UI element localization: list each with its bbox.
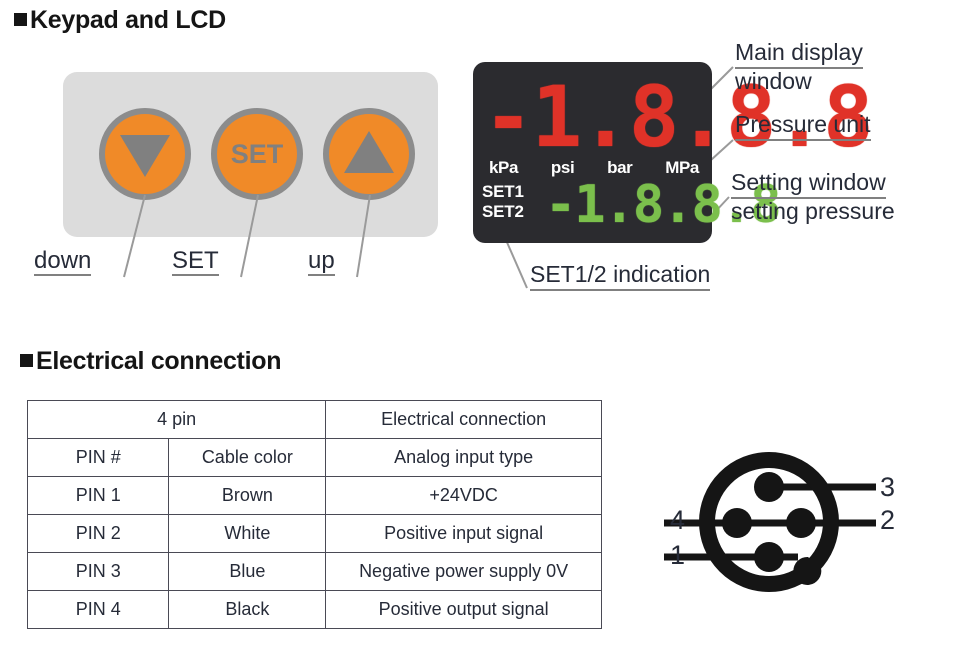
table-group-header-row: 4 pin Electrical connection xyxy=(28,401,602,439)
cell-color: Blue xyxy=(169,553,326,591)
set-button-label: SET xyxy=(231,141,284,168)
cell-desc: +24VDC xyxy=(326,477,602,515)
electrical-section-heading: Electrical connection xyxy=(20,347,281,376)
set-indication-callout-line1: SET1/2 indication xyxy=(530,262,710,291)
keypad-panel: SET xyxy=(63,72,438,237)
unit-kpa: kPa xyxy=(489,158,518,178)
cell-color: Black xyxy=(169,591,326,629)
triangle-down-icon xyxy=(120,135,170,177)
set1-indicator: SET1 xyxy=(482,182,524,202)
connector-pin-label-4: 4 xyxy=(670,507,685,534)
cell-pin: PIN 3 xyxy=(28,553,169,591)
setting-window-callout: Setting window setting pressure xyxy=(731,170,895,225)
keypad-heading-text: Keypad and LCD xyxy=(30,6,226,34)
connector-pin-label-1: 1 xyxy=(670,542,685,569)
main-display-callout: Main display window xyxy=(735,40,863,95)
connector-pin-3 xyxy=(754,472,784,502)
set-indicator-group: SET1 SET2 xyxy=(482,182,524,222)
cell-pin: PIN 2 xyxy=(28,515,169,553)
set-indication-callout: SET1/2 indication xyxy=(530,262,710,291)
up-button[interactable] xyxy=(323,108,415,200)
table-row: PIN 3 Blue Negative power supply 0V xyxy=(28,553,602,591)
connector-pin-label-2: 2 xyxy=(880,507,895,534)
down-button-caption: down xyxy=(34,248,91,276)
connector-pin-label-3: 3 xyxy=(880,474,895,501)
pressure-unit-callout-line1: Pressure unit xyxy=(735,112,871,141)
table-row: PIN 4 Black Positive output signal xyxy=(28,591,602,629)
connector-pin-1 xyxy=(754,542,784,572)
lcd-panel: -1.8.8.8 kPa psi bar MPa SET1 SET2 -1.8.… xyxy=(473,62,712,243)
heading-bullet-icon xyxy=(20,354,33,367)
cell-pin: PIN 1 xyxy=(28,477,169,515)
cell-pin: PIN 4 xyxy=(28,591,169,629)
cell-color: Brown xyxy=(169,477,326,515)
main-display-callout-line1: Main display xyxy=(735,40,863,69)
table-row: PIN 2 White Positive input signal xyxy=(28,515,602,553)
connector-pin-2 xyxy=(786,508,816,538)
connector-pinout-diagram: 4 1 3 2 xyxy=(648,435,928,610)
pressure-unit-callout: Pressure unit xyxy=(735,112,871,141)
heading-bullet-icon xyxy=(14,13,27,26)
group-header-4pin: 4 pin xyxy=(28,401,326,439)
column-header-analog-input-type: Analog input type xyxy=(326,439,602,477)
table-row: PIN 1 Brown +24VDC xyxy=(28,477,602,515)
setting-window-callout-line2: setting pressure xyxy=(731,198,895,224)
column-header-cable-color: Cable color xyxy=(169,439,326,477)
main-display-callout-line2: window xyxy=(735,68,812,94)
datasheet-page: Keypad and LCD SET down SET up -1.8.8.8 xyxy=(0,0,960,649)
cell-desc: Positive input signal xyxy=(326,515,602,553)
group-header-electrical-connection: Electrical connection xyxy=(326,401,602,439)
set2-indicator: SET2 xyxy=(482,202,524,222)
set-button[interactable]: SET xyxy=(211,108,303,200)
connector-pin-4 xyxy=(722,508,752,538)
electrical-heading-text: Electrical connection xyxy=(36,347,281,375)
cell-desc: Negative power supply 0V xyxy=(326,553,602,591)
column-header-pin: PIN # xyxy=(28,439,169,477)
setting-window-callout-line1: Setting window xyxy=(731,170,886,199)
pin-assignment-table: 4 pin Electrical connection PIN # Cable … xyxy=(27,400,602,629)
up-button-caption: up xyxy=(308,248,335,276)
down-button[interactable] xyxy=(99,108,191,200)
cell-desc: Positive output signal xyxy=(326,591,602,629)
triangle-up-icon xyxy=(344,131,394,173)
keypad-section-heading: Keypad and LCD xyxy=(14,6,226,35)
table-column-header-row: PIN # Cable color Analog input type xyxy=(28,439,602,477)
cell-color: White xyxy=(169,515,326,553)
set-button-caption: SET xyxy=(172,248,219,276)
